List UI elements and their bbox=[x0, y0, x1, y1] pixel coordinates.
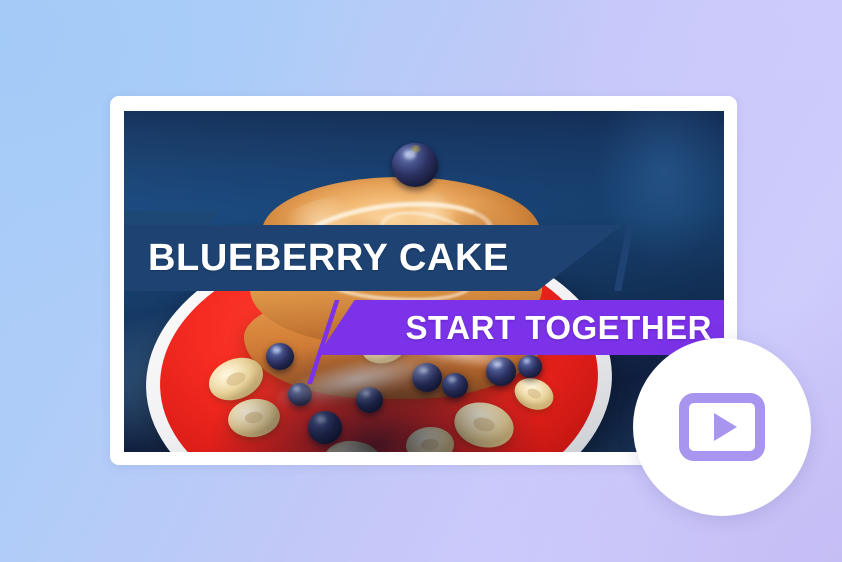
title-text: BLUEBERRY CAKE bbox=[148, 237, 509, 280]
subtitle-banner: START TOGETHER bbox=[318, 300, 724, 355]
thumbnail-stage: BLUEBERRY CAKE START TOGETHER bbox=[0, 0, 842, 562]
video-play-icon bbox=[679, 393, 765, 461]
title-accent-stripe bbox=[124, 211, 220, 225]
play-button[interactable] bbox=[633, 338, 811, 516]
subtitle-text: START TOGETHER bbox=[406, 309, 712, 347]
title-banner: BLUEBERRY CAKE bbox=[124, 225, 622, 291]
